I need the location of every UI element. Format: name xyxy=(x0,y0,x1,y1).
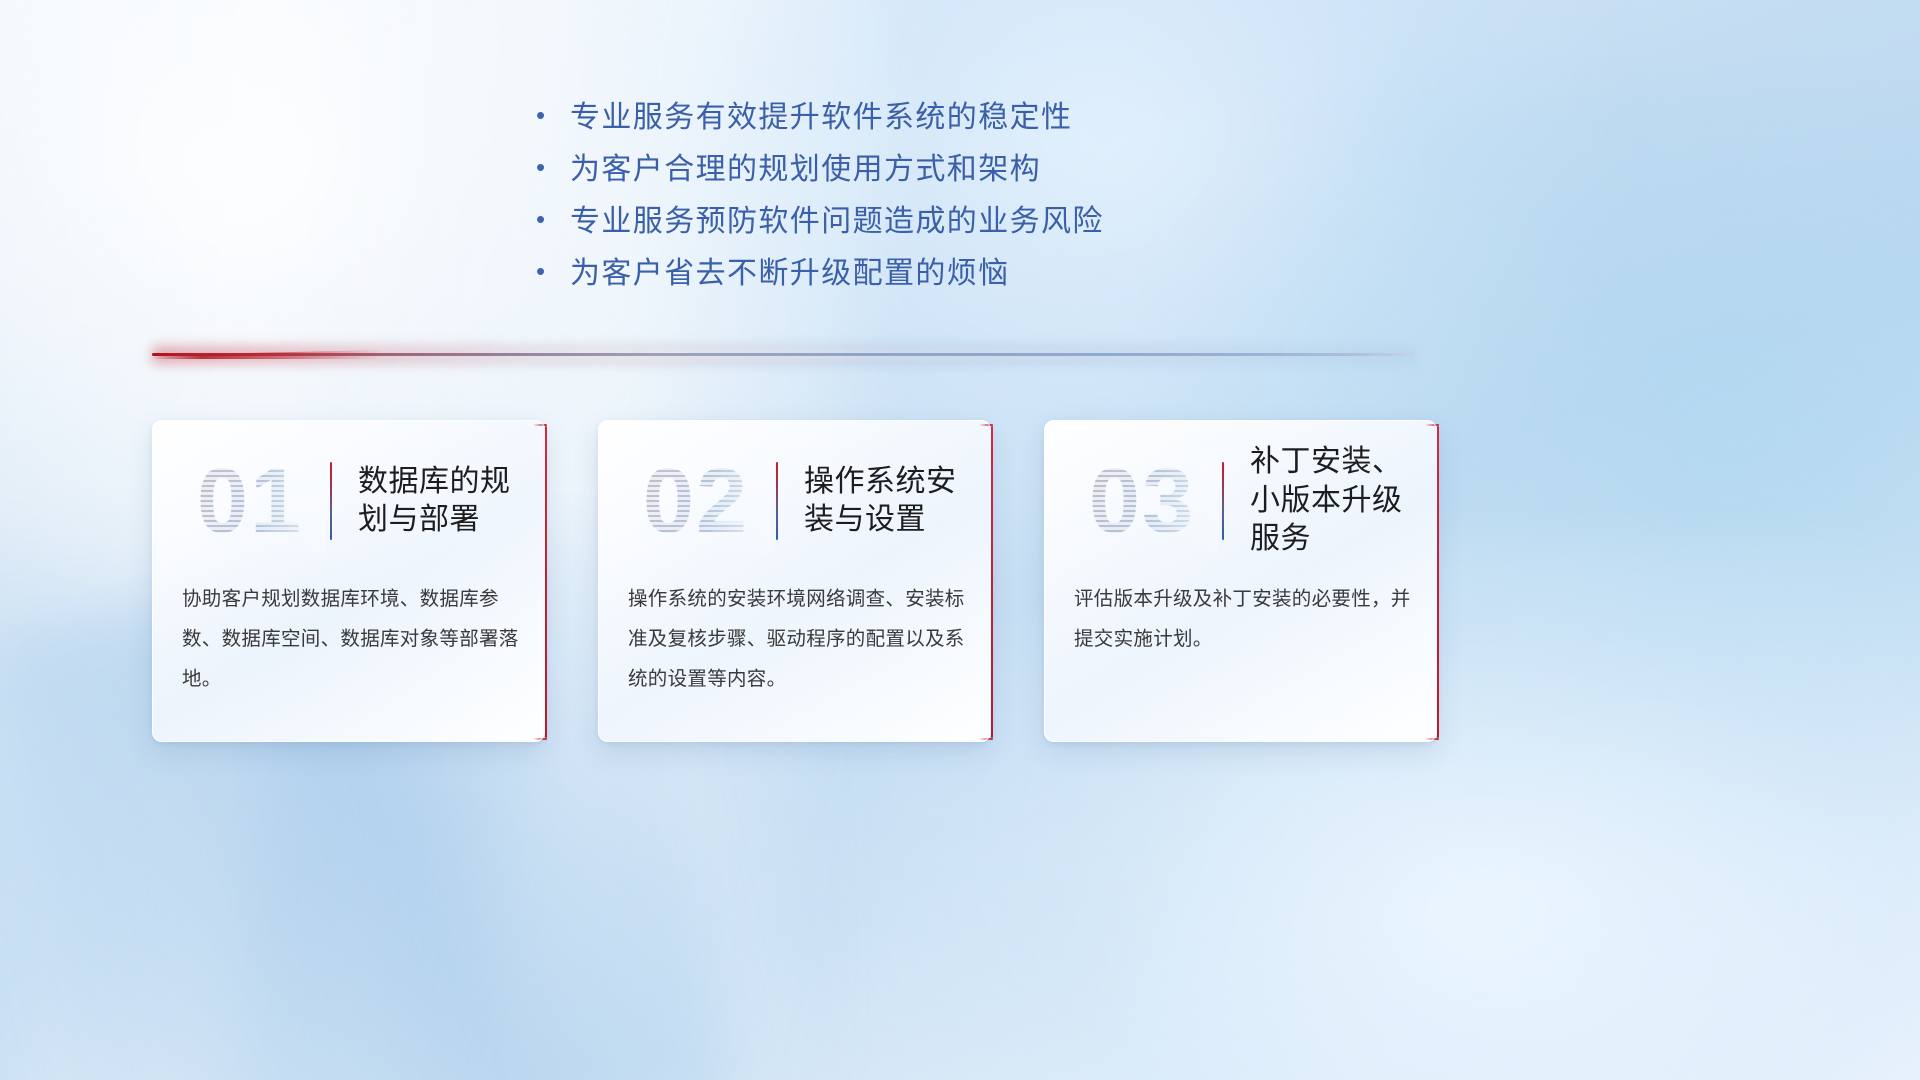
list-item: • 为客户合理的规划使用方式和架构 xyxy=(536,144,1104,196)
bullet-text: 为客户合理的规划使用方式和架构 xyxy=(570,144,1041,188)
card-description: 操作系统的安装环境网络调查、安装标准及复核步骤、驱动程序的配置以及系统的设置等内… xyxy=(628,580,965,700)
card-number-tint: 01 xyxy=(174,449,326,553)
card-accent-bar-bottom-cap xyxy=(533,738,547,740)
card-accent-bar-top-cap xyxy=(533,424,547,426)
card-accent-bar-top-cap xyxy=(979,424,993,426)
service-card-01[interactable]: 01 01 数据库的规划与部署 协助客户规划数据库环境、数据库参数、数据库空间、… xyxy=(152,420,545,742)
list-item: • 专业服务预防软件问题造成的业务风险 xyxy=(536,196,1104,248)
card-description: 协助客户规划数据库环境、数据库参数、数据库空间、数据库对象等部署落地。 xyxy=(182,580,519,700)
card-accent-bar xyxy=(1437,426,1439,738)
benefits-bullet-list: • 专业服务有效提升软件系统的稳定性 • 为客户合理的规划使用方式和架构 • 专… xyxy=(536,92,1104,300)
card-number-tint: 02 xyxy=(620,449,772,553)
card-title: 数据库的规划与部署 xyxy=(358,463,545,540)
bullet-dot-icon: • xyxy=(536,154,570,180)
service-card-02[interactable]: 02 02 操作系统安装与设置 操作系统的安装环境网络调查、安装标准及复核步骤、… xyxy=(598,420,991,742)
bullet-dot-icon: • xyxy=(536,258,570,284)
card-accent-bar-top-cap xyxy=(1425,424,1439,426)
bullet-dot-icon: • xyxy=(536,206,570,232)
bullet-text: 专业服务预防软件问题造成的业务风险 xyxy=(570,196,1104,240)
card-title: 操作系统安装与设置 xyxy=(804,463,991,540)
bullet-text: 专业服务有效提升软件系统的稳定性 xyxy=(570,92,1072,136)
card-title: 补丁安装、小版本升级服务 xyxy=(1250,443,1437,558)
card-title-divider xyxy=(776,462,778,540)
bullet-dot-icon: • xyxy=(536,102,570,128)
service-card-group: 01 01 数据库的规划与部署 协助客户规划数据库环境、数据库参数、数据库空间、… xyxy=(0,420,1920,750)
section-divider xyxy=(152,349,1417,363)
card-accent-bar xyxy=(545,426,547,738)
divider-sheen xyxy=(152,349,1417,360)
card-accent-bar-bottom-cap xyxy=(1425,738,1439,740)
list-item: • 为客户省去不断升级配置的烦恼 xyxy=(536,248,1104,300)
bullet-text: 为客户省去不断升级配置的烦恼 xyxy=(570,248,1010,292)
list-item: • 专业服务有效提升软件系统的稳定性 xyxy=(536,92,1104,144)
card-description: 评估版本升级及补丁安装的必要性，并提交实施计划。 xyxy=(1074,580,1411,660)
card-accent-bar xyxy=(991,426,993,738)
card-header: 01 01 数据库的规划与部署 xyxy=(152,438,545,564)
card-number-watermark: 03 03 xyxy=(1066,449,1218,553)
card-header: 02 02 操作系统安装与设置 xyxy=(598,438,991,564)
card-title-divider xyxy=(330,462,332,540)
card-header: 03 03 补丁安装、小版本升级服务 xyxy=(1044,438,1437,564)
card-number-tint: 03 xyxy=(1066,449,1218,553)
card-number-watermark: 01 01 xyxy=(174,449,326,553)
card-title-divider xyxy=(1222,462,1224,540)
card-accent-bar-bottom-cap xyxy=(979,738,993,740)
service-card-03[interactable]: 03 03 补丁安装、小版本升级服务 评估版本升级及补丁安装的必要性，并提交实施… xyxy=(1044,420,1437,742)
card-number-watermark: 02 02 xyxy=(620,449,772,553)
